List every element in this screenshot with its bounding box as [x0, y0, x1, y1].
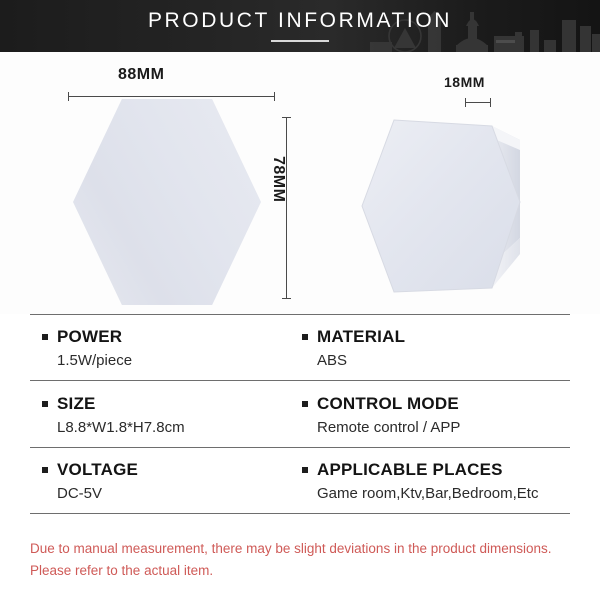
dimension-cap-height-bottom — [282, 298, 291, 299]
disclaimer-note: Due to manual measurement, there may be … — [30, 538, 590, 582]
title-underline — [271, 40, 329, 42]
dimension-line-width — [68, 96, 275, 97]
dimension-label-depth: 18MM — [444, 74, 485, 90]
disclaimer-line-1: Due to manual measurement, there may be … — [30, 538, 590, 560]
dimension-cap-depth-right — [490, 98, 491, 107]
spec-label: VOLTAGE — [42, 460, 302, 480]
spec-label-text: APPLICABLE PLACES — [317, 460, 503, 480]
dimension-label-height: 78MM — [269, 156, 287, 202]
dimension-label-width: 88MM — [118, 66, 164, 84]
spec-divider-bottom — [30, 513, 570, 514]
dimension-cap-depth-left — [465, 98, 466, 107]
spec-value: L8.8*W1.8*H7.8cm — [57, 419, 302, 436]
spec-label: SIZE — [42, 394, 302, 414]
dimension-cap-height-top — [282, 117, 291, 118]
bullet-square-icon — [42, 334, 48, 340]
spec-item-material: MATERIAL ABS — [302, 327, 562, 369]
spec-table: POWER 1.5W/piece MATERIAL ABS SIZE L8.8*… — [0, 314, 600, 528]
spec-label-text: CONTROL MODE — [317, 394, 459, 414]
spec-label: APPLICABLE PLACES — [302, 460, 562, 480]
dimension-cap-width-left — [68, 92, 69, 101]
spec-label-text: MATERIAL — [317, 327, 405, 347]
page-title: PRODUCT INFORMATION — [0, 9, 600, 33]
spec-label: POWER — [42, 327, 302, 347]
spec-value: ABS — [317, 352, 562, 369]
spec-divider-2 — [30, 447, 570, 448]
dimension-cap-width-right — [274, 92, 275, 101]
hexagon-panel-front — [73, 99, 261, 305]
spec-item-power: POWER 1.5W/piece — [42, 327, 302, 369]
page-header: PRODUCT INFORMATION — [0, 0, 600, 52]
spec-label-text: VOLTAGE — [57, 460, 138, 480]
spec-label: CONTROL MODE — [302, 394, 562, 414]
spec-label-text: SIZE — [57, 394, 96, 414]
dimension-line-depth — [465, 102, 491, 103]
spec-value: 1.5W/piece — [57, 352, 302, 369]
dimension-line-height — [286, 117, 287, 299]
bullet-square-icon — [302, 467, 308, 473]
spec-value: Game room,Ktv,Bar,Bedroom,Etc — [317, 485, 562, 502]
spec-value: Remote control / APP — [317, 419, 562, 436]
disclaimer-line-2: Please refer to the actual item. — [30, 560, 590, 582]
spec-label: MATERIAL — [302, 327, 562, 347]
spec-item-applicable-places: APPLICABLE PLACES Game room,Ktv,Bar,Bedr… — [302, 460, 562, 502]
bullet-square-icon — [42, 401, 48, 407]
spec-item-control-mode: CONTROL MODE Remote control / APP — [302, 394, 562, 436]
bullet-square-icon — [42, 467, 48, 473]
product-diagram: 88MM 78MM 18MM — [0, 52, 600, 314]
bullet-square-icon — [302, 334, 308, 340]
spec-label-text: POWER — [57, 327, 122, 347]
spec-item-size: SIZE L8.8*W1.8*H7.8cm — [42, 394, 302, 436]
bullet-square-icon — [302, 401, 308, 407]
spec-item-voltage: VOLTAGE DC-5V — [42, 460, 302, 502]
spec-value: DC-5V — [57, 485, 302, 502]
spec-divider-1 — [30, 380, 570, 381]
hexagon-panel-3d — [352, 106, 542, 306]
spec-divider-top — [30, 314, 570, 315]
